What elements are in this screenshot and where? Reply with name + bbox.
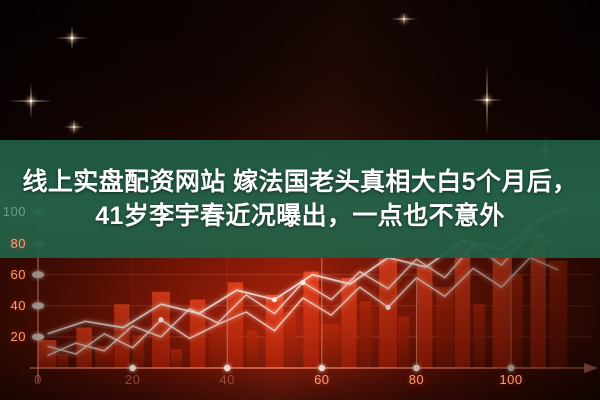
x-axis-tick-label: 0	[16, 372, 60, 387]
screenshot-canvas: 线上实盘配资网站 嫁法国老头真相大白5个月后， 41岁李宇春近况曝出，一点也不意…	[0, 0, 600, 400]
y-axis-tick-label: 40	[0, 298, 26, 313]
x-axis-tick-label: 40	[205, 372, 249, 387]
x-axis-tick-label: 20	[111, 372, 155, 387]
y-axis-tick-label: 100	[0, 204, 26, 219]
x-axis-tick-label: 60	[300, 372, 344, 387]
y-axis-tick-label: 20	[0, 329, 26, 344]
x-axis-tick-label: 80	[394, 372, 438, 387]
x-axis-tick-label: 100	[489, 372, 533, 387]
y-axis-tick-label: 60	[0, 267, 26, 282]
y-axis-tick-label: 80	[0, 236, 26, 251]
title-band	[0, 140, 600, 258]
